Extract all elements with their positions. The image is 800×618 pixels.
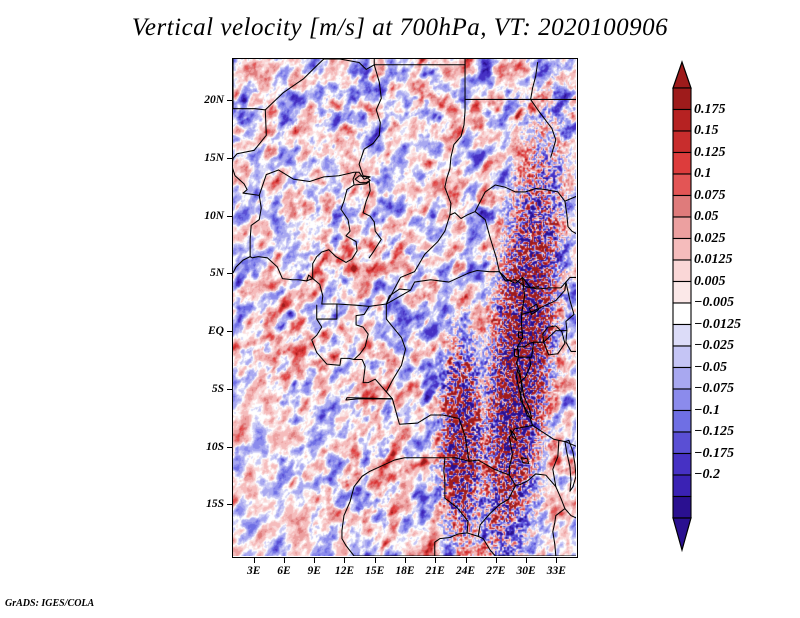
country-border-path (324, 59, 374, 69)
colorbar-band (673, 368, 691, 390)
x-axis-label: 15E (365, 565, 384, 577)
colorbar[interactable]: 0.1750.150.1250.10.0750.050.0250.01250.0… (660, 55, 800, 565)
x-tick-mark (344, 558, 345, 563)
country-borders-overlay (233, 59, 576, 556)
colorbar-band (673, 282, 691, 304)
colorbar-band (673, 217, 691, 239)
colorbar-band (673, 196, 691, 218)
y-tick-mark (227, 331, 232, 332)
colorbar-band (673, 110, 691, 132)
country-border-path (516, 370, 531, 419)
colorbar-tick-label: 0.005 (694, 274, 726, 290)
colorbar-band (673, 239, 691, 261)
colorbar-band (673, 131, 691, 153)
country-border-path (346, 399, 392, 400)
x-tick-mark (405, 558, 406, 563)
colorbar-band (673, 475, 691, 497)
country-border-path (519, 331, 567, 347)
colorbar-tick-label: 0.05 (694, 209, 719, 225)
y-tick-mark (227, 273, 232, 274)
country-border-path (374, 65, 381, 136)
footer-credit: GrADS: IGES/COLA (5, 598, 94, 609)
y-axis-label: 15N (184, 152, 224, 164)
country-border-path (566, 282, 576, 351)
colorbar-tick-label: −0.175 (694, 446, 734, 462)
x-axis-label: 24E (456, 565, 475, 577)
colorbar-tick-label: 0.1 (694, 166, 712, 182)
y-tick-mark (227, 216, 232, 217)
colorbar-band (673, 454, 691, 476)
x-axis-label: 9E (307, 565, 320, 577)
colorbar-tick-label: −0.05 (694, 360, 727, 376)
colorbar-band (673, 88, 691, 110)
colorbar-tick-label: 0.025 (694, 231, 726, 247)
colorbar-tick-label: −0.125 (694, 424, 734, 440)
colorbar-tick-label: 0.125 (694, 145, 726, 161)
x-axis-label: 30E (516, 565, 535, 577)
country-border-path (265, 59, 324, 110)
colorbar-band (673, 411, 691, 433)
country-border-path (565, 440, 576, 491)
country-border-path (531, 62, 556, 157)
country-border-path (509, 277, 532, 475)
country-border-path (510, 430, 516, 440)
y-axis-label: EQ (184, 325, 224, 337)
colorbar-band (673, 497, 691, 519)
country-border-path (386, 271, 499, 305)
country-border-path (233, 158, 247, 193)
country-border-path (565, 197, 576, 202)
country-border-path (521, 474, 576, 518)
x-tick-mark (284, 558, 285, 563)
country-border-path (475, 185, 576, 234)
country-border-path (519, 342, 534, 357)
y-tick-mark (227, 447, 232, 448)
colorbar-band (673, 389, 691, 411)
y-tick-mark (227, 504, 232, 505)
colorbar-arrow-top (673, 62, 691, 88)
country-border-path (450, 212, 499, 272)
colorbar-band (673, 346, 691, 368)
x-axis-label: 18E (395, 565, 414, 577)
country-border-path (309, 275, 387, 306)
map-plot-area[interactable] (232, 58, 578, 558)
country-border-path (317, 304, 337, 319)
y-axis-label: 5S (184, 383, 224, 395)
colorbar-tick-label: 0.15 (694, 123, 719, 139)
colorbar-tick-label: −0.2 (694, 467, 720, 483)
grads-plot-window: Vertical velocity [m/s] at 700hPa, VT: 2… (0, 0, 800, 618)
x-axis-label: 33E (547, 565, 566, 577)
y-axis-label: 10S (184, 441, 224, 453)
y-axis-label: 20N (184, 94, 224, 106)
colorbar-band (673, 303, 691, 325)
x-tick-mark (496, 558, 497, 563)
x-axis-label: 12E (335, 565, 354, 577)
country-border-path (307, 185, 357, 281)
colorbar-tick-label: −0.0125 (694, 317, 741, 333)
x-tick-mark (375, 558, 376, 563)
country-border-path (553, 440, 559, 486)
country-border-path (354, 306, 369, 359)
country-border-path (478, 486, 515, 537)
country-border-path (553, 509, 565, 556)
x-tick-mark (466, 558, 467, 563)
colorbar-band (673, 432, 691, 454)
colorbar-band (673, 260, 691, 282)
y-axis-label: 10N (184, 210, 224, 222)
x-tick-mark (254, 558, 255, 563)
country-border-path (522, 458, 529, 464)
x-axis-label: 21E (426, 565, 445, 577)
x-tick-mark (556, 558, 557, 563)
country-border-path (312, 319, 393, 400)
y-axis-label: 5N (184, 267, 224, 279)
colorbar-tick-label: −0.075 (694, 381, 734, 397)
country-border-path (363, 182, 381, 258)
country-border-path (243, 193, 261, 257)
page-title: Vertical velocity [m/s] at 700hPa, VT: 2… (0, 14, 800, 42)
x-tick-mark (526, 558, 527, 563)
colorbar-tick-label: −0.025 (694, 338, 734, 354)
colorbar-tick-label: 0.075 (694, 188, 726, 204)
country-border-path (386, 304, 405, 392)
country-border-path (392, 399, 520, 486)
colorbar-tick-label: 0.0125 (694, 252, 733, 268)
country-border-path (444, 458, 468, 533)
colorbar-band (673, 153, 691, 175)
y-tick-mark (227, 100, 232, 101)
colorbar-tick-label: −0.1 (694, 403, 720, 419)
country-border-path (250, 257, 306, 281)
colorbar-arrow-bottom (673, 518, 691, 550)
x-axis-label: 3E (247, 565, 260, 577)
colorbar-tick-label: −0.005 (694, 295, 734, 311)
x-tick-mark (314, 558, 315, 563)
colorbar-tick-label: 0.175 (694, 102, 726, 118)
y-tick-mark (227, 158, 232, 159)
x-axis-label: 27E (486, 565, 505, 577)
x-tick-mark (435, 558, 436, 563)
country-border-path (233, 59, 266, 158)
country-border-path (342, 458, 469, 556)
y-axis-label: 15S (184, 498, 224, 510)
x-axis-label: 6E (277, 565, 290, 577)
country-border-path (435, 533, 496, 556)
colorbar-band (673, 174, 691, 196)
colorbar-band (673, 325, 691, 347)
y-tick-mark (227, 389, 232, 390)
country-border-path (386, 59, 465, 304)
country-border-path (233, 257, 250, 273)
country-border-path (259, 170, 356, 195)
